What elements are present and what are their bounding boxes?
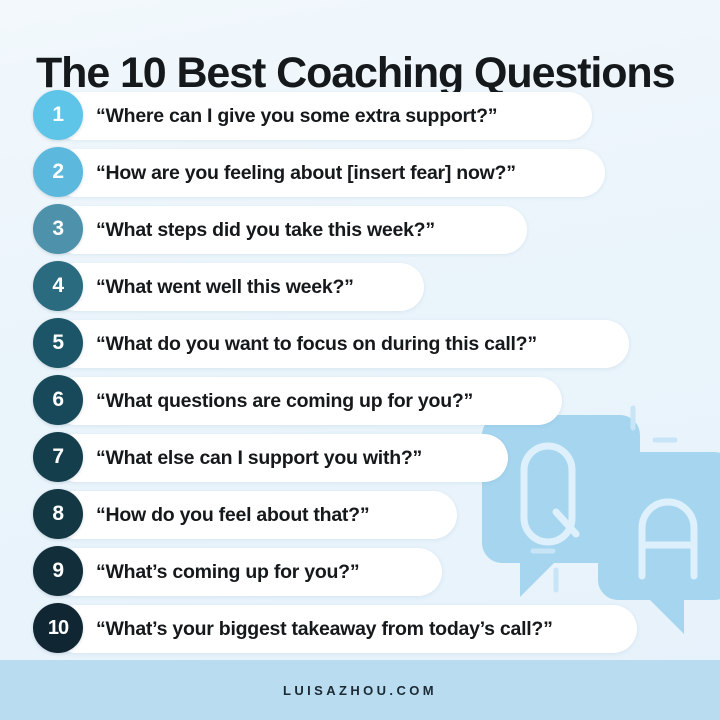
- list-item[interactable]: 10 “What’s your biggest takeaway from to…: [0, 601, 720, 658]
- list-item[interactable]: 6 “What questions are coming up for you?…: [0, 373, 720, 430]
- list-item[interactable]: 8 “How do you feel about that?”: [0, 487, 720, 544]
- question-number-badge: 8: [33, 489, 83, 539]
- question-number-badge: 5: [33, 318, 83, 368]
- question-text: “What do you want to focus on during thi…: [96, 316, 537, 372]
- infographic-canvas: The 10 Best Coaching Questions 1 “Where …: [0, 0, 720, 720]
- list-item[interactable]: 4 “What went well this week?”: [0, 259, 720, 316]
- website-url: LUISAZHOU.COM: [283, 683, 437, 698]
- list-item[interactable]: 7 “What else can I support you with?”: [0, 430, 720, 487]
- questions-list: 1 “Where can I give you some extra suppo…: [0, 88, 720, 658]
- list-item[interactable]: 3 “What steps did you take this week?”: [0, 202, 720, 259]
- question-number-badge: 7: [33, 432, 83, 482]
- question-text: “What’s your biggest takeaway from today…: [96, 601, 553, 657]
- list-item[interactable]: 2 “How are you feeling about [insert fea…: [0, 145, 720, 202]
- question-text: “What questions are coming up for you?”: [96, 373, 473, 429]
- list-item[interactable]: 9 “What’s coming up for you?”: [0, 544, 720, 601]
- question-text: “What else can I support you with?”: [96, 430, 422, 486]
- question-text: “What’s coming up for you?”: [96, 544, 359, 600]
- question-text: “How are you feeling about [insert fear]…: [96, 145, 516, 201]
- question-number-badge: 2: [33, 147, 83, 197]
- question-number-badge: 10: [33, 603, 83, 653]
- question-number-badge: 1: [33, 90, 83, 140]
- question-number-badge: 4: [33, 261, 83, 311]
- question-text: “What went well this week?”: [96, 259, 354, 315]
- question-number-badge: 9: [33, 546, 83, 596]
- question-text: “What steps did you take this week?”: [96, 202, 435, 258]
- list-item[interactable]: 5 “What do you want to focus on during t…: [0, 316, 720, 373]
- question-number-badge: 6: [33, 375, 83, 425]
- list-item[interactable]: 1 “Where can I give you some extra suppo…: [0, 88, 720, 145]
- footer-band: LUISAZHOU.COM: [0, 660, 720, 720]
- question-text: “Where can I give you some extra support…: [96, 88, 497, 144]
- question-number-badge: 3: [33, 204, 83, 254]
- question-text: “How do you feel about that?”: [96, 487, 369, 543]
